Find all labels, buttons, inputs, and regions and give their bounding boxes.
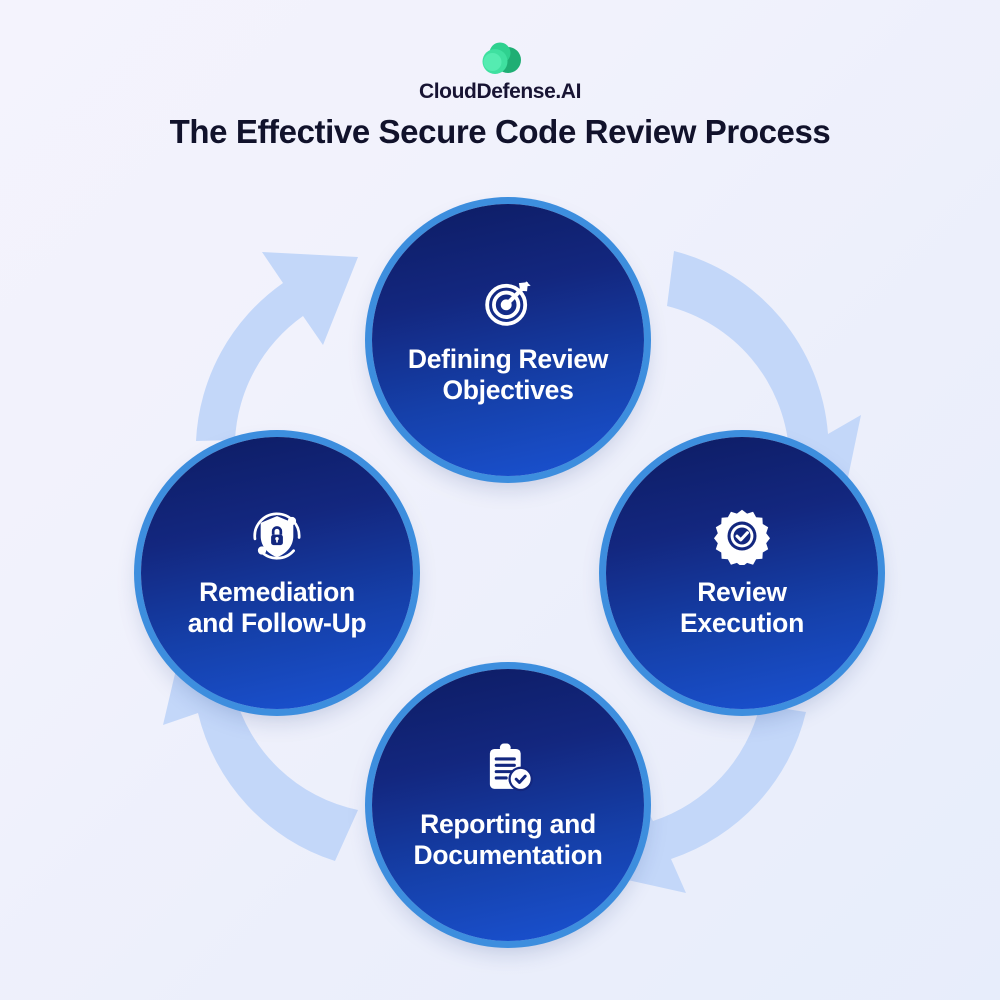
cycle-node-label: Reporting and Documentation (414, 809, 603, 872)
clipboard-check-icon (479, 739, 537, 797)
cycle-node-label: Remediation and Follow-Up (188, 577, 367, 640)
arrow-left-to-top (196, 252, 358, 441)
cycle-node-review-execution[interactable]: Review Execution (606, 437, 878, 709)
gear-check-icon (713, 507, 771, 565)
cycle-diagram: Defining Review Objectives Review Execut… (0, 0, 1000, 1000)
target-arrow-icon (479, 274, 537, 332)
cycle-node-label: Defining Review Objectives (408, 344, 608, 407)
cycle-node-defining-review-objectives[interactable]: Defining Review Objectives (372, 204, 644, 476)
cycle-node-remediation-and-follow-up[interactable]: Remediation and Follow-Up (141, 437, 413, 709)
cycle-node-label: Review Execution (680, 577, 804, 640)
cycle-node-reporting-and-documentation[interactable]: Reporting and Documentation (372, 669, 644, 941)
shield-lock-icon (248, 507, 306, 565)
infographic-canvas: CloudDefense.AI The Effective Secure Cod… (0, 0, 1000, 1000)
